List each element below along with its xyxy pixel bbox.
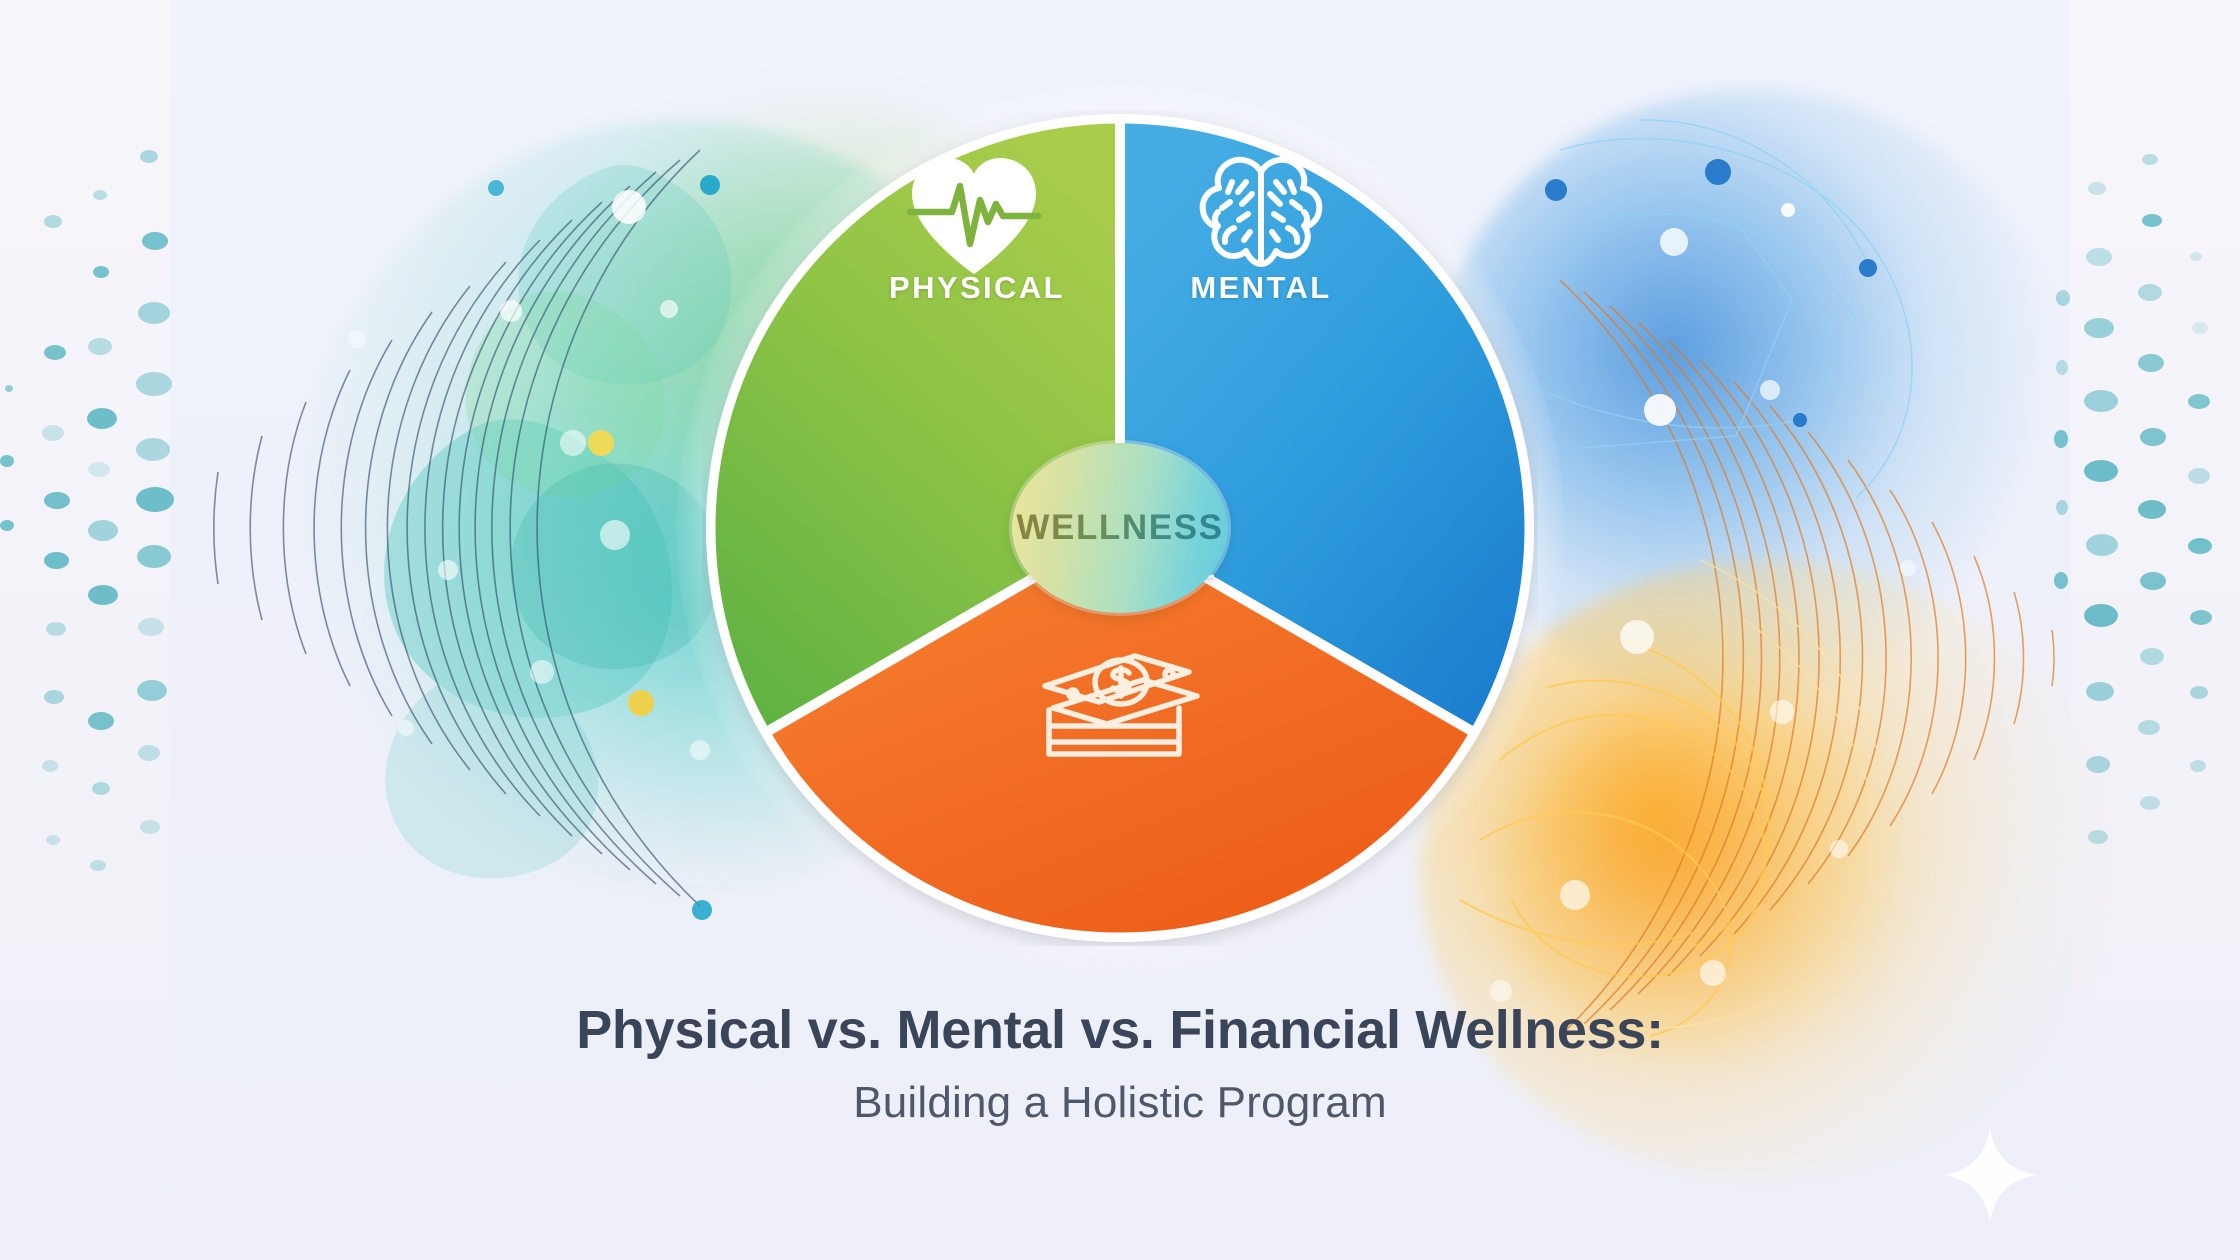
wellness-hub: WELLNESS bbox=[1012, 443, 1228, 613]
accent-dot-yellow bbox=[588, 430, 614, 456]
page-subtitle: Building a Holistic Program bbox=[0, 1078, 2240, 1128]
page-title: Physical vs. Mental vs. Financial Wellne… bbox=[0, 1000, 2240, 1060]
caption-block: Physical vs. Mental vs. Financial Wellne… bbox=[0, 1000, 2240, 1128]
accent-dot-teal bbox=[488, 180, 504, 196]
bokeh-dot bbox=[1830, 840, 1848, 858]
segment-label-physical: PHYSICAL bbox=[862, 270, 1092, 306]
bokeh-dot bbox=[660, 300, 678, 318]
brain-icon bbox=[1194, 148, 1328, 283]
sparkle-icon bbox=[1935, 1120, 2045, 1235]
wellness-hub-label: WELLNESS bbox=[1016, 508, 1223, 548]
bokeh-dot bbox=[1620, 620, 1654, 654]
bokeh-dot bbox=[612, 190, 646, 224]
money-bills-icon bbox=[1039, 650, 1205, 777]
slide-canvas: PHYSICAL bbox=[0, 0, 2240, 1260]
heart-pulse-icon bbox=[904, 150, 1044, 285]
bokeh-dot bbox=[530, 660, 554, 684]
wellness-wheel: PHYSICAL bbox=[702, 110, 1538, 946]
bokeh-dot bbox=[1490, 980, 1512, 1002]
bokeh-dot bbox=[1560, 880, 1590, 910]
bokeh-dot bbox=[1660, 228, 1688, 256]
bokeh-dot bbox=[600, 520, 630, 550]
accent-dot-yellow bbox=[628, 690, 654, 716]
bokeh-dot bbox=[438, 560, 458, 580]
segment-label-mental: MENTAL bbox=[1146, 270, 1376, 306]
bokeh-dot bbox=[500, 300, 522, 322]
bokeh-dot bbox=[398, 720, 414, 736]
bokeh-dot bbox=[1700, 960, 1726, 986]
bokeh-dot bbox=[1770, 700, 1794, 724]
bokeh-dot bbox=[560, 430, 586, 456]
bokeh-dot bbox=[1760, 380, 1780, 400]
bokeh-dot bbox=[1900, 560, 1916, 576]
bokeh-dot bbox=[348, 330, 366, 348]
